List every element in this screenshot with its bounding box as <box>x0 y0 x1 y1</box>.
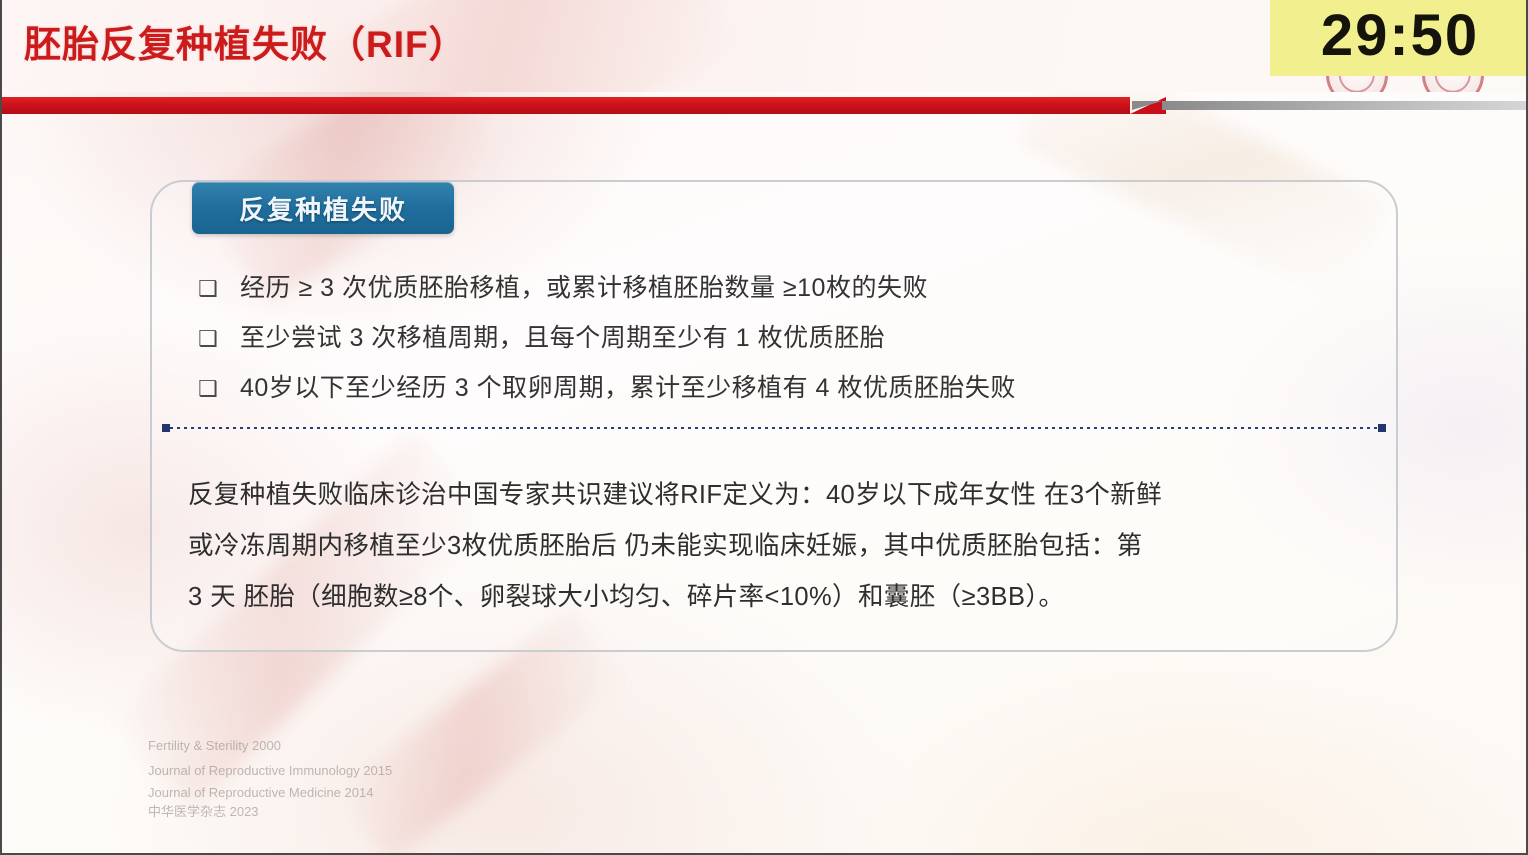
reference-item: 中华医学杂志 2023 <box>148 802 392 821</box>
list-item-label: 40岁以下至少经历 3 个取卵周期，累计至少移植有 4 枚优质胚胎失败 <box>240 368 1016 404</box>
bullet-square-icon: ❑ <box>198 327 240 352</box>
dotted-divider <box>162 424 1386 432</box>
slide-screen: 胚胎反复种植失败（RIF） 29:50 反复种植失败 ❑ 经历 ≥ 3 次优质胚… <box>0 0 1528 855</box>
paragraph-line: 3 天 胚胎（细胞数≥8个、卵裂球大小均匀、碎片率<10%）和囊胚（≥3BB）。 <box>188 572 1338 623</box>
paragraph-line: 或冷冻周期内移植至少3枚优质胚胎后 仍未能实现临床妊娠，其中优质胚胎包括：第 <box>188 521 1338 572</box>
list-item-label: 经历 ≥ 3 次优质胚胎移植，或累计移植胚胎数量 ≥10枚的失败 <box>240 268 928 304</box>
reference-item: Journal of Reproductive Medicine 2014 <box>148 783 392 802</box>
list-item: ❑ 经历 ≥ 3 次优质胚胎移植，或累计移植胚胎数量 ≥10枚的失败 <box>198 268 1358 318</box>
criteria-list: ❑ 经历 ≥ 3 次优质胚胎移植，或累计移植胚胎数量 ≥10枚的失败 ❑ 至少尝… <box>198 268 1358 418</box>
page-title: 胚胎反复种植失败（RIF） <box>24 14 467 68</box>
card-section-tag-label: 反复种植失败 <box>239 190 407 227</box>
divider-cap-right <box>1378 424 1386 432</box>
bullet-square-icon: ❑ <box>198 277 240 302</box>
countdown-timer-value: 29:50 <box>1321 7 1479 65</box>
header-red-rule <box>2 97 1130 114</box>
reference-item: Journal of Reproductive Immunology 2015 <box>148 758 392 783</box>
list-item: ❑ 至少尝试 3 次移植周期，且每个周期至少有 1 枚优质胚胎 <box>198 318 1358 368</box>
card-section-tag: 反复种植失败 <box>192 182 454 234</box>
bullet-square-icon: ❑ <box>198 377 240 402</box>
divider-dots <box>170 427 1378 429</box>
divider-cap-left <box>162 424 170 432</box>
list-item-label: 至少尝试 3 次移植周期，且每个周期至少有 1 枚优质胚胎 <box>240 318 885 354</box>
reference-item: Fertility & Sterility 2000 <box>148 733 392 758</box>
reference-list: Fertility & Sterility 2000 Journal of Re… <box>148 733 392 821</box>
list-item: ❑ 40岁以下至少经历 3 个取卵周期，累计至少移植有 4 枚优质胚胎失败 <box>198 368 1358 418</box>
countdown-timer: 29:50 <box>1270 0 1528 76</box>
consensus-paragraph: 反复种植失败临床诊治中国专家共识建议将RIF定义为：40岁以下成年女性 在3个新… <box>188 470 1338 623</box>
header-gray-rule <box>1162 101 1528 110</box>
paragraph-line: 反复种植失败临床诊治中国专家共识建议将RIF定义为：40岁以下成年女性 在3个新… <box>188 470 1338 521</box>
slide-header: 胚胎反复种植失败（RIF） 29:50 <box>2 0 1528 92</box>
